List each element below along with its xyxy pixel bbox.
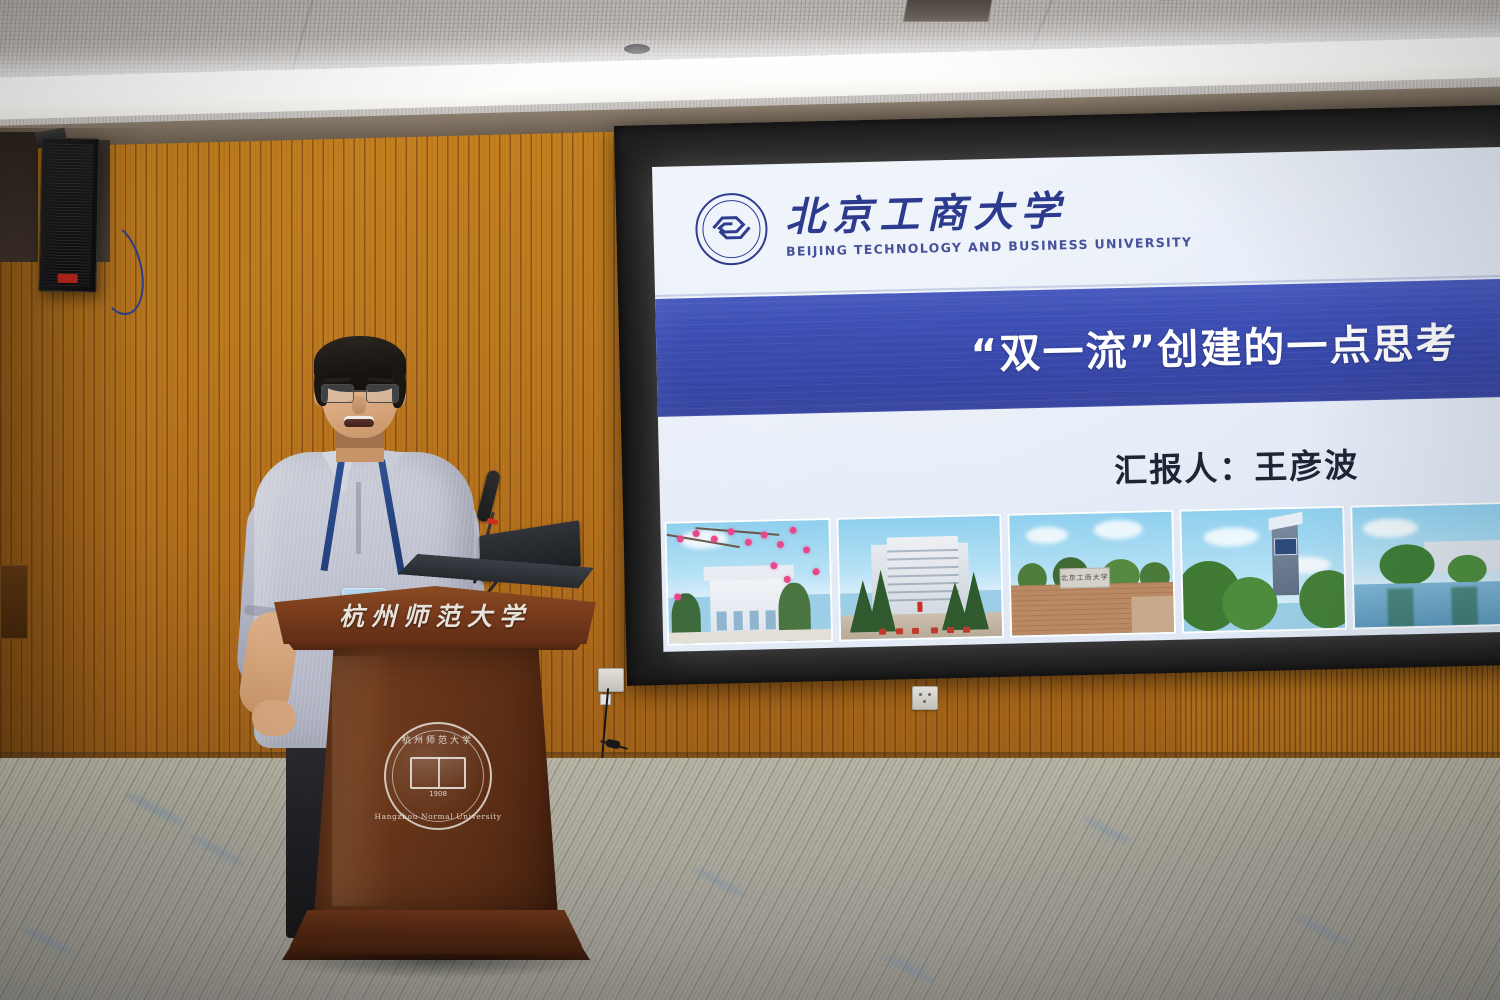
jbl-logo-icon — [58, 274, 78, 283]
slide-title-band: “双一流”创建的一点思考 — [655, 279, 1500, 417]
ceiling-downlight-icon — [624, 44, 650, 54]
slide-photo-campus-gate-wall: 北京工商大学 — [1007, 510, 1175, 638]
lectern-floor-shadow — [278, 954, 598, 978]
speaker-grille — [45, 144, 94, 287]
emblem-name-cn: 杭州师范大学 — [402, 733, 474, 746]
shirt-placket — [356, 482, 361, 554]
presenter-mouth — [344, 416, 374, 427]
wall-recess-left — [0, 132, 38, 262]
slide-photo-campus-lakeside — [1351, 502, 1500, 630]
lectern-sign-text: 杭州师范大学 — [274, 592, 596, 638]
lectern-highlight — [332, 656, 392, 906]
university-name-cn: 北京工商大学 — [785, 187, 1192, 239]
emblem-year: 1908 — [429, 790, 447, 798]
slide-title: “双一流”创建的一点思考 — [970, 309, 1459, 380]
slide-photo-campus-main-tower — [836, 514, 1004, 642]
lectern: 杭州师范大学 杭州师范大学 1908 Hangzhou Normal Unive… — [268, 586, 602, 978]
presentation-slide[interactable]: 北京工商大学 BEIJING TECHNOLOGY AND BUSINESS U… — [652, 147, 1500, 652]
btbu-seal-icon — [695, 192, 769, 266]
slide-photo-campus-blossom-building — [664, 518, 832, 646]
wall-mounted-loudspeaker — [38, 137, 99, 292]
presenter-row: 汇报人：王彦波 — [658, 419, 1500, 519]
presenter-nose — [352, 396, 366, 414]
carpet-floor — [0, 758, 1500, 1000]
ceiling-air-vent — [903, 0, 994, 22]
emblem-name-en: Hangzhou Normal University — [374, 812, 501, 821]
slide-photo-strip: 北京工商大学 — [660, 502, 1500, 646]
hznu-emblem-icon: 杭州师范大学 1908 Hangzhou Normal University — [384, 722, 492, 830]
wall-access-panel — [0, 565, 28, 639]
wall-power-outlet[interactable] — [912, 686, 938, 710]
btbu-name-block: 北京工商大学 BEIJING TECHNOLOGY AND BUSINESS U… — [785, 187, 1193, 259]
presenter-name: 汇报人：王彦波 — [1114, 438, 1360, 492]
gate-plaque-text: 北京工商大学 — [1061, 573, 1109, 584]
slide-header: 北京工商大学 BEIJING TECHNOLOGY AND BUSINESS U… — [652, 147, 1500, 295]
slide-photo-campus-clock-tower — [1179, 506, 1347, 634]
conference-room-photo: 北京工商大学 BEIJING TECHNOLOGY AND BUSINESS U… — [0, 0, 1500, 1000]
